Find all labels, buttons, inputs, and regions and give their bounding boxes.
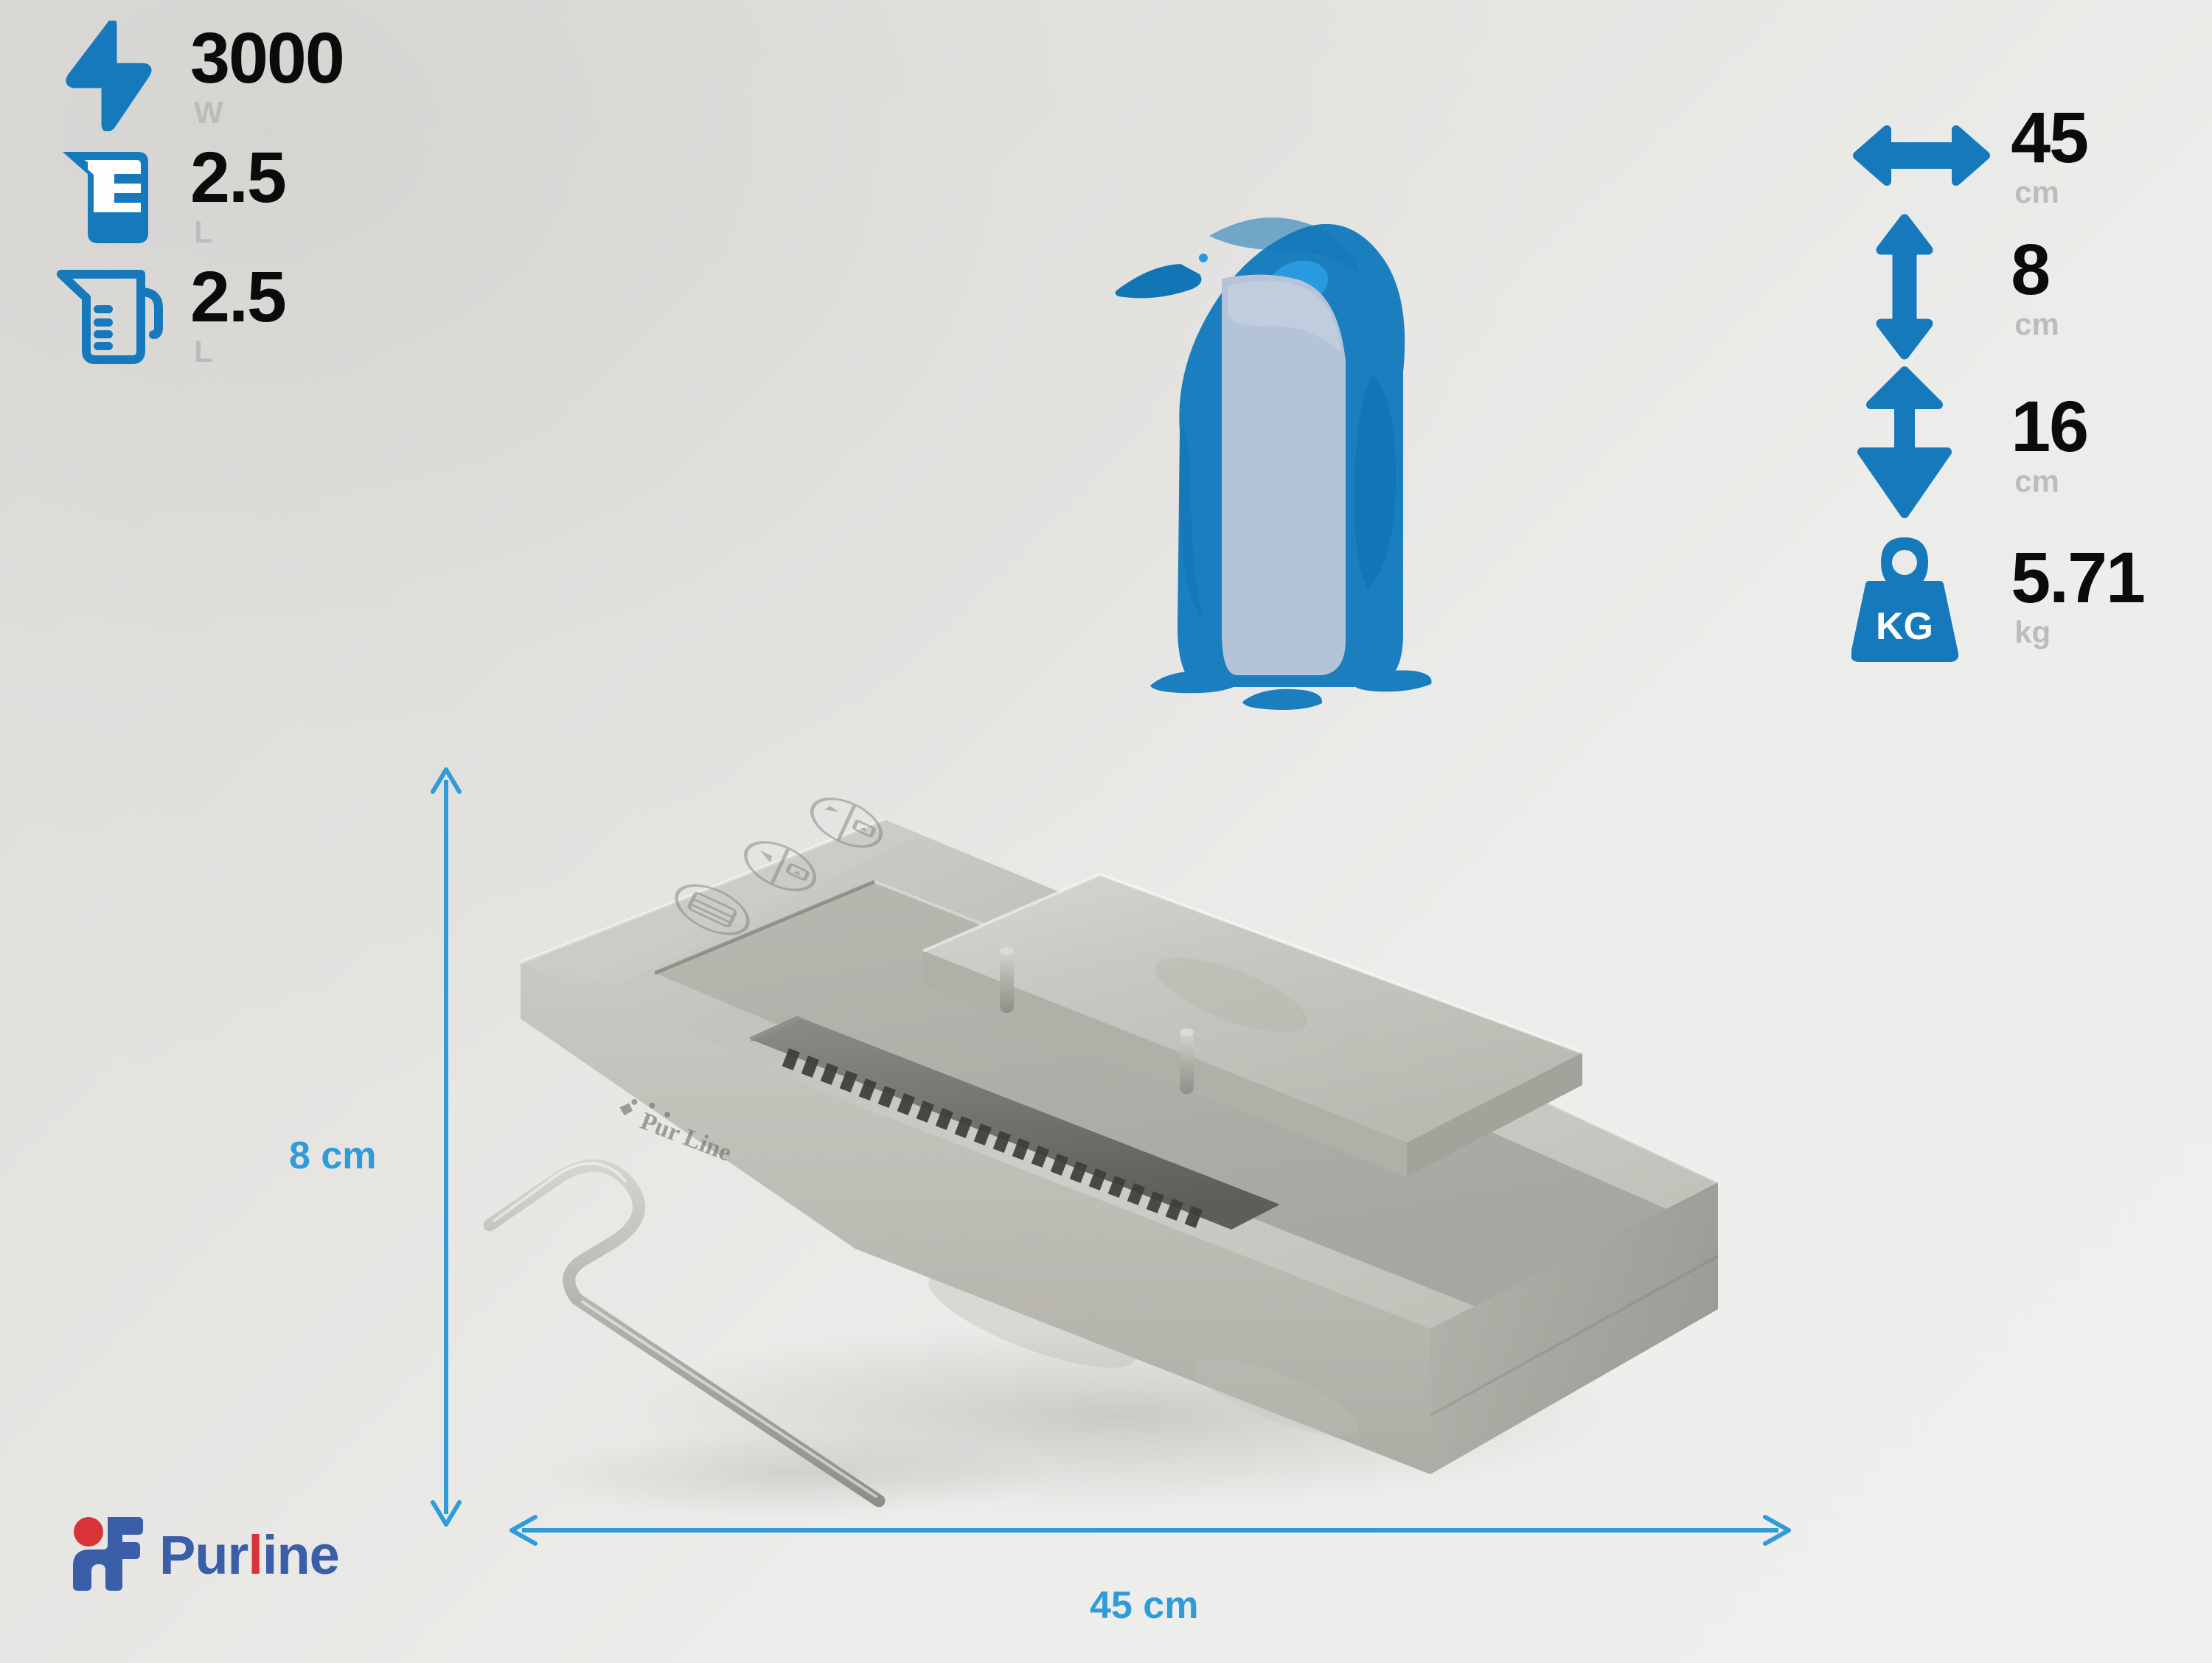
- spec-row-depth: 16 cm: [1851, 366, 2087, 521]
- spec-row-height: 8 cm: [1851, 213, 2059, 360]
- wordmark-part-2: l: [248, 1524, 262, 1586]
- spec-unit-power: W: [194, 98, 223, 128]
- wordmark-part-3: ine: [262, 1524, 339, 1586]
- spec-unit-tank-capacity: L: [194, 217, 213, 247]
- penguin-illustration: [1110, 177, 1464, 722]
- spec-value-depth: 16: [2011, 392, 2087, 461]
- right-spec-column: 45 cm 8 cm 16 cm: [1851, 103, 2144, 663]
- svg-text:KG: KG: [1876, 605, 1933, 648]
- left-spec-column: 3000 W 2.5 L: [46, 21, 344, 370]
- spec-unit-width: cm: [2014, 178, 2059, 207]
- spec-value-tank-capacity: 2.5: [190, 143, 285, 212]
- spec-row-width: 45 cm: [1851, 103, 2087, 207]
- spec-unit-fuel-capacity: L: [194, 337, 213, 366]
- purline-wordmark: Purline: [159, 1528, 339, 1583]
- spec-value-weight: 5.71: [2011, 543, 2144, 612]
- spec-row-power: 3000 W: [46, 21, 344, 131]
- spec-unit-depth: cm: [2014, 467, 2059, 496]
- lightning-bolt-icon: [46, 21, 171, 131]
- measuring-jug-icon: [46, 259, 171, 370]
- spec-row-tank-capacity: 2.5 L: [46, 140, 285, 251]
- weight-kg-icon: KG: [1851, 527, 1992, 663]
- spec-unit-height: cm: [2014, 310, 2059, 339]
- product-photo: Pur Line: [472, 730, 1770, 1526]
- spec-value-width: 45: [2011, 103, 2087, 172]
- purline-logo: Purline: [68, 1511, 378, 1600]
- beaker-icon: [46, 140, 171, 251]
- spec-value-height: 8: [2011, 235, 2049, 304]
- arrow-vertical-thick-icon: [1851, 366, 1992, 521]
- height-dimension-line: [424, 767, 468, 1527]
- width-dimension-line: [509, 1511, 1792, 1549]
- arrow-horizontal-icon: [1851, 115, 1992, 196]
- purline-mark-icon: [68, 1516, 149, 1596]
- spec-value-power: 3000: [190, 24, 344, 92]
- spec-row-fuel-capacity: 2.5 L: [46, 259, 285, 370]
- arrow-vertical-thin-icon: [1851, 213, 1992, 360]
- spec-row-weight: KG 5.71 kg: [1851, 527, 2144, 663]
- spec-unit-weight: kg: [2014, 618, 2051, 647]
- spec-value-fuel-capacity: 2.5: [190, 262, 285, 331]
- wordmark-part-1: Pur: [159, 1524, 248, 1586]
- height-dimension-label: 8 cm: [289, 1134, 377, 1178]
- width-dimension-label: 45 cm: [1090, 1583, 1198, 1628]
